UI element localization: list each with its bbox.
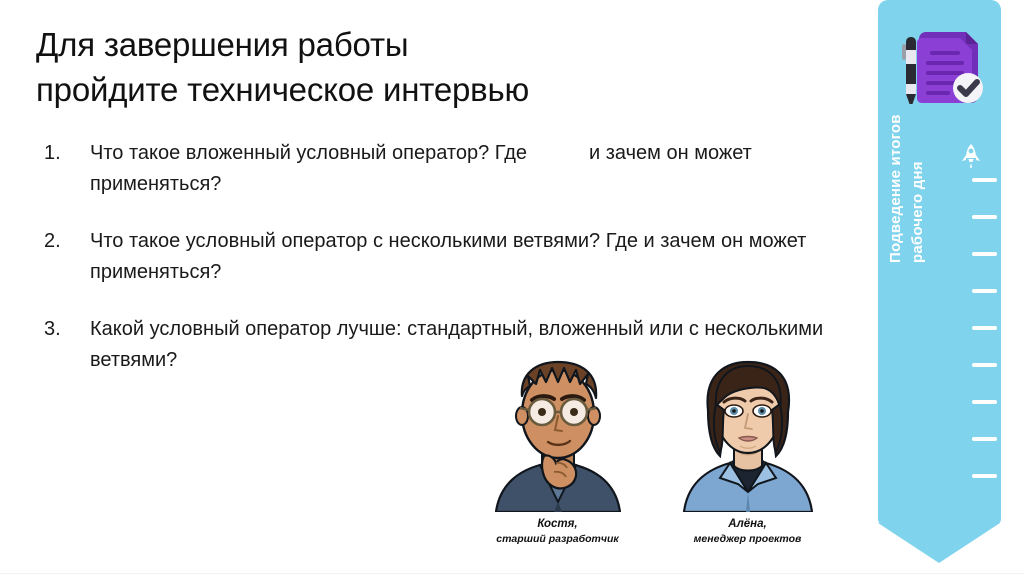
person-kostya: Костя, старший разработчик (470, 352, 645, 547)
list-item-text: Что такое условный оператор с нескольким… (90, 226, 830, 288)
sidebar-vertical-label: Подведение итогов рабочего дня (878, 0, 1001, 525)
person-name: Костя, (470, 516, 645, 532)
page-title: Для завершения работы пройдите техническ… (36, 22, 836, 112)
list-item-number: 1. (44, 138, 90, 200)
list-item-text-part-1: Что такое вложенный условный оператор? Г… (90, 142, 527, 164)
person-name: Алёна, (660, 516, 835, 532)
sidebar-bookmark: Подведение итогов рабочего дня (878, 0, 1001, 525)
male-developer-avatar-icon (470, 352, 645, 512)
sidebar-bookmark-point (878, 523, 1000, 563)
slide-canvas: Для завершения работы пройдите техническ… (0, 0, 1024, 574)
sidebar-vertical-label-line-1: Подведение итогов (887, 114, 904, 263)
person-role: старший разработчик (470, 532, 645, 547)
list-item-number: 2. (44, 226, 90, 288)
list-item: 2. Что такое условный оператор с несколь… (44, 226, 844, 288)
title-line-1: Для завершения работы (36, 22, 836, 67)
person-role: менеджер проектов (660, 532, 835, 547)
people-group: Костя, старший разработчик (470, 352, 860, 562)
female-manager-avatar-icon (660, 352, 835, 512)
sidebar-vertical-label-line-2: рабочего дня (909, 161, 926, 263)
avatar (660, 352, 835, 512)
list-item: 1. Что такое вложенный условный оператор… (44, 138, 844, 200)
list-item-number: 3. (44, 314, 90, 376)
title-line-2: пройдите техническое интервью (36, 67, 836, 112)
avatar (470, 352, 645, 512)
person-alena: Алёна, менеджер проектов (660, 352, 835, 547)
list-item-text: Что такое вложенный условный оператор? Г… (90, 138, 830, 200)
